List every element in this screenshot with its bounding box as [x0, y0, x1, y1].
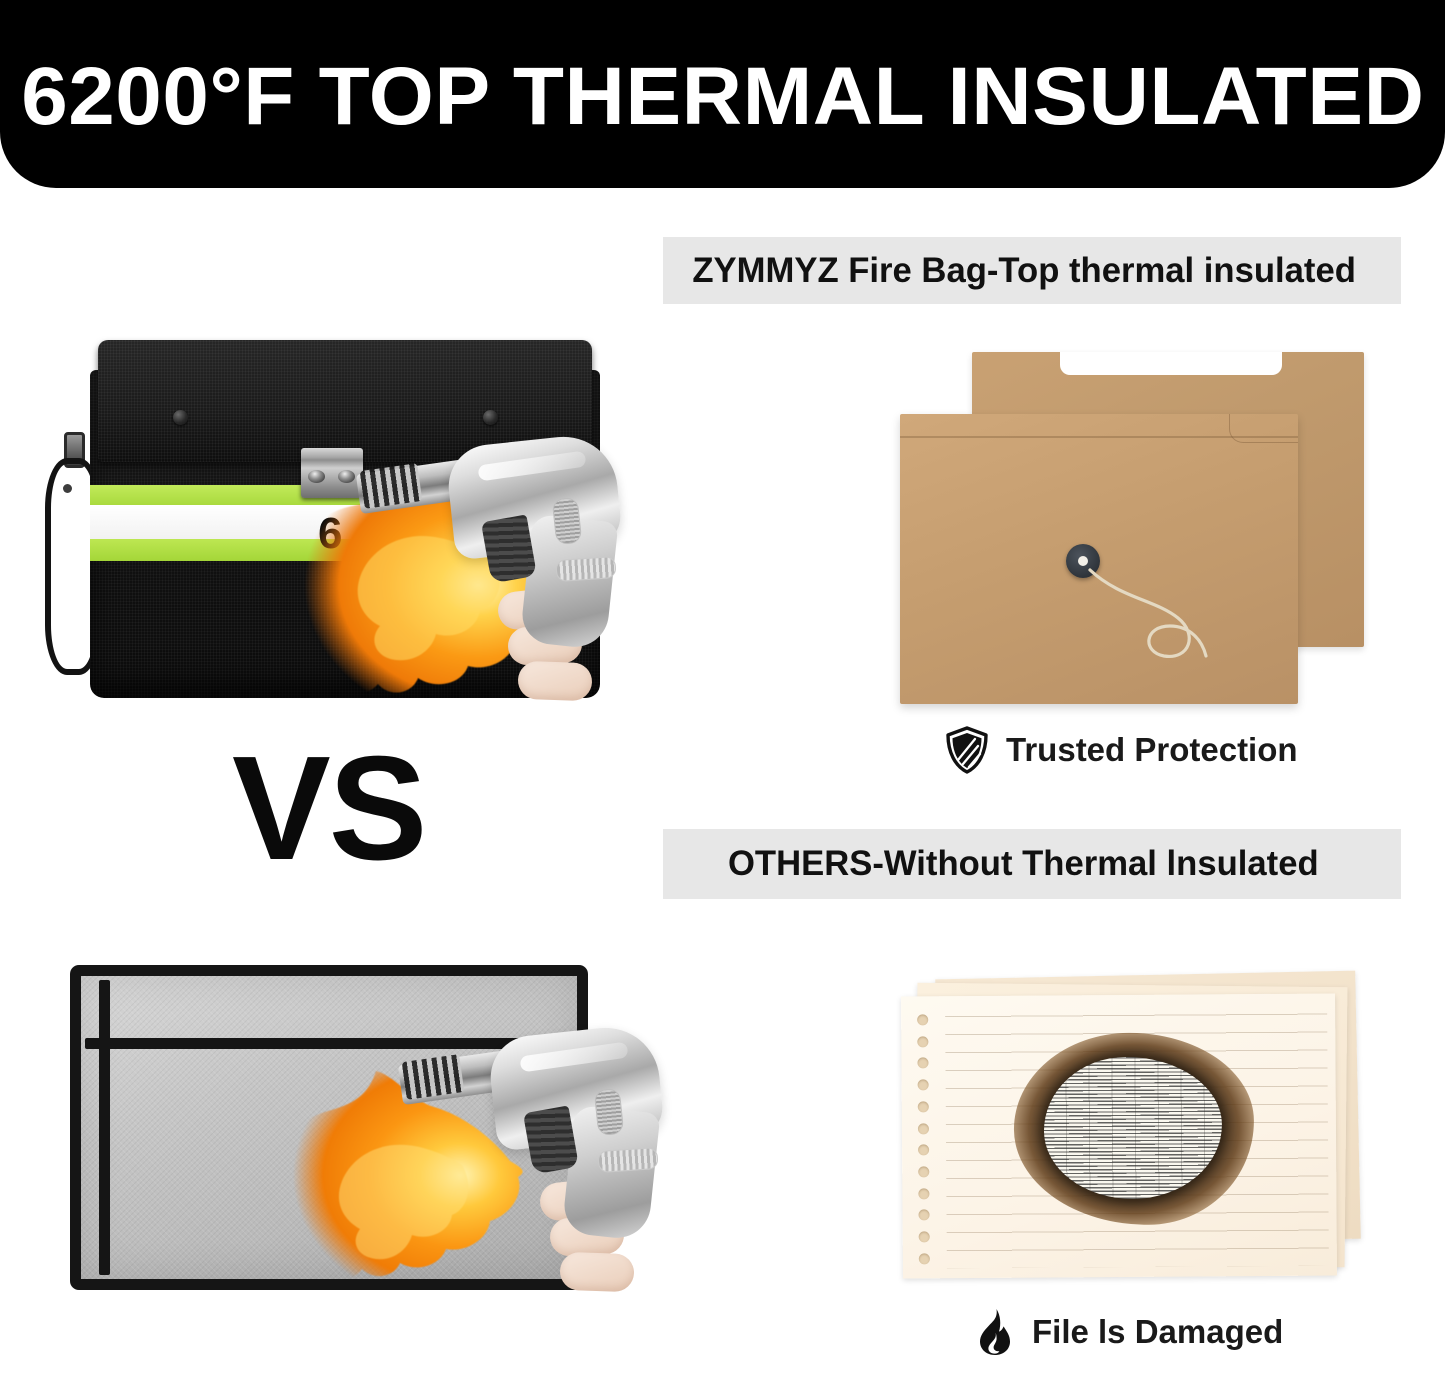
snap-button-left	[173, 410, 188, 425]
paper-punch-holes	[917, 1014, 935, 1264]
caption-trusted-protection: Trusted Protection	[945, 726, 1298, 774]
caption-file-damaged: File ls Damaged	[975, 1308, 1283, 1356]
clasp-rivet-left	[308, 470, 325, 483]
envelope-string	[1086, 564, 1216, 672]
torch-nozzle-rings	[360, 463, 423, 509]
snap-button-right	[483, 410, 498, 425]
torch-lock-button[interactable]	[594, 1088, 625, 1136]
punch-hole	[918, 1101, 929, 1112]
page-title: 6200°F TOP THERMAL INSULATED	[21, 56, 1424, 138]
torch-nozzle-rings	[402, 1054, 465, 1100]
punch-hole	[918, 1079, 929, 1090]
punch-hole	[918, 1123, 929, 1134]
punch-hole	[919, 1232, 930, 1243]
punch-hole	[917, 1058, 928, 1069]
torch-vent	[597, 1147, 658, 1173]
torch-lock-button[interactable]	[552, 497, 583, 545]
punch-hole	[918, 1145, 929, 1156]
punch-hole	[918, 1166, 929, 1177]
punch-hole	[918, 1188, 929, 1199]
envelope-front-sheet	[900, 414, 1298, 704]
intact-kraft-envelope	[900, 352, 1370, 717]
zymmyz-black-bag-scene: 6 ZYMMYZ	[38, 340, 648, 715]
punch-hole	[917, 1036, 928, 1047]
banner-others-product: OTHERS-Without Thermal lnsulated	[663, 829, 1401, 899]
printed-rating-text: 6	[318, 512, 342, 556]
strap-stud	[63, 484, 72, 493]
others-silver-bag-scene	[70, 965, 630, 1295]
punch-hole	[917, 1014, 928, 1025]
bag-flap-edge	[85, 1038, 573, 1049]
punch-hole	[919, 1210, 930, 1221]
paper-sheet-front	[901, 993, 1337, 1278]
banner-zymmyz-label: ZYMMYZ Fire Bag-Top thermal insulated	[692, 251, 1356, 291]
header-banner: 6200°F TOP THERMAL INSULATED	[0, 0, 1445, 188]
punch-hole	[919, 1253, 930, 1264]
vs-label: VS	[232, 735, 425, 883]
caption-file-damaged-label: File ls Damaged	[1032, 1313, 1283, 1351]
torch-vent	[555, 556, 616, 582]
caption-trusted-protection-label: Trusted Protection	[1006, 731, 1298, 769]
finger-3	[559, 1252, 634, 1293]
envelope-corner-fold	[1229, 414, 1298, 443]
shield-icon	[945, 726, 989, 774]
flame-icon	[975, 1308, 1015, 1356]
finger-3	[517, 661, 592, 702]
clasp-rivet-right	[338, 470, 355, 483]
damaged-paper-stack	[896, 975, 1376, 1285]
envelope-notch	[1060, 352, 1282, 375]
banner-zymmyz-product: ZYMMYZ Fire Bag-Top thermal insulated	[663, 237, 1401, 304]
burn-damage	[1013, 1032, 1254, 1226]
banner-others-label: OTHERS-Without Thermal lnsulated	[728, 844, 1319, 884]
bag-side-binding	[99, 980, 110, 1275]
metal-clasp	[301, 448, 363, 498]
